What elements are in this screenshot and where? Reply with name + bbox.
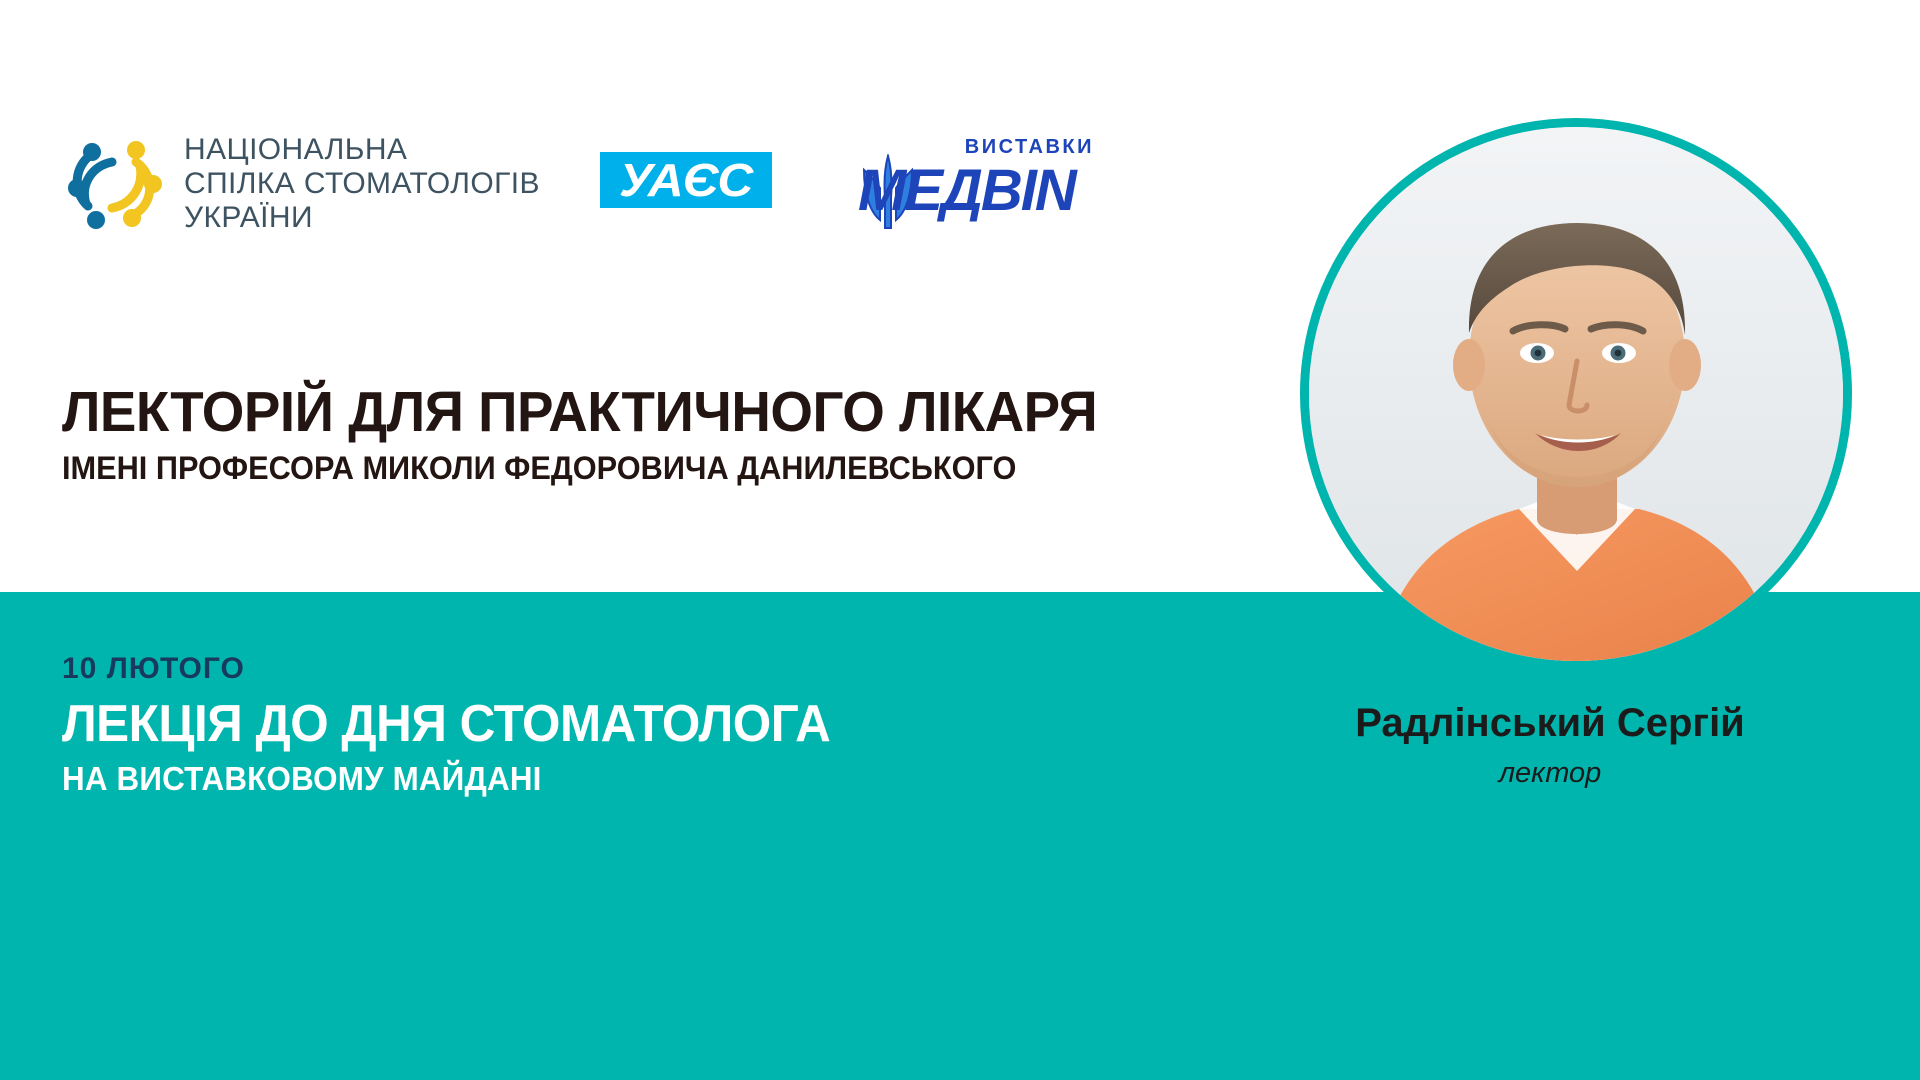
medvin-wordmark: МЕДВІN	[858, 162, 1075, 220]
medvin-tagline: ВИСТАВКИ	[965, 136, 1094, 159]
speaker-photo	[1300, 118, 1852, 670]
event-place: НА ВИСТАВКОВОМУ МАЙДАНІ	[62, 760, 1012, 798]
nssu-line-3: УКРАЇНИ	[184, 201, 313, 234]
speaker-role: лектор	[1180, 756, 1920, 790]
event-title: ЛЕКЦІЯ ДО ДНЯ СТОМАТОЛОГА	[62, 696, 1012, 752]
nssu-swirl-icon	[62, 132, 166, 236]
event-block: 10 ЛЮТОГО ЛЕКЦІЯ ДО ДНЯ СТОМАТОЛОГА НА В…	[62, 652, 1062, 798]
page-title: ЛЕКТОРІЙ ДЛЯ ПРАКТИЧНОГО ЛІКАРЯ	[62, 382, 1252, 442]
speaker-caption: Радлінський Сергій лектор	[1180, 700, 1920, 790]
logo-medvin: ВИСТАВКИ МЕДВІN	[858, 128, 1098, 238]
poster-root: НАЦІОНАЛЬНА СПІЛКА СТОМАТОЛОГІВ УКРАЇНИ …	[0, 0, 1920, 1080]
uaes-wordmark: УАЄС	[619, 157, 752, 203]
headline-block: ЛЕКТОРІЙ ДЛЯ ПРАКТИЧНОГО ЛІКАРЯ ІМЕНІ ПР…	[62, 382, 1302, 486]
nssu-line-2: СПІЛКА СТОМАТОЛОГІВ	[184, 167, 540, 200]
nssu-line-1: НАЦІОНАЛЬНА	[184, 133, 407, 166]
page-subtitle: ІМЕНІ ПРОФЕСОРА МИКОЛИ ФЕДОРОВИЧА ДАНИЛЕ…	[62, 450, 1252, 486]
event-date: 10 ЛЮТОГО	[62, 652, 1062, 686]
speaker-name: Радлінський Сергій	[1180, 700, 1920, 746]
logo-nssu: НАЦІОНАЛЬНА СПІЛКА СТОМАТОЛОГІВ УКРАЇНИ	[62, 132, 540, 236]
logo-strip: НАЦІОНАЛЬНА СПІЛКА СТОМАТОЛОГІВ УКРАЇНИ …	[0, 118, 1120, 248]
avatar	[1309, 127, 1843, 661]
nssu-logo-text: НАЦІОНАЛЬНА СПІЛКА СТОМАТОЛОГІВ УКРАЇНИ	[184, 133, 540, 235]
logo-uaes: УАЄС	[600, 152, 772, 208]
uaes-badge: УАЄС	[600, 152, 772, 208]
